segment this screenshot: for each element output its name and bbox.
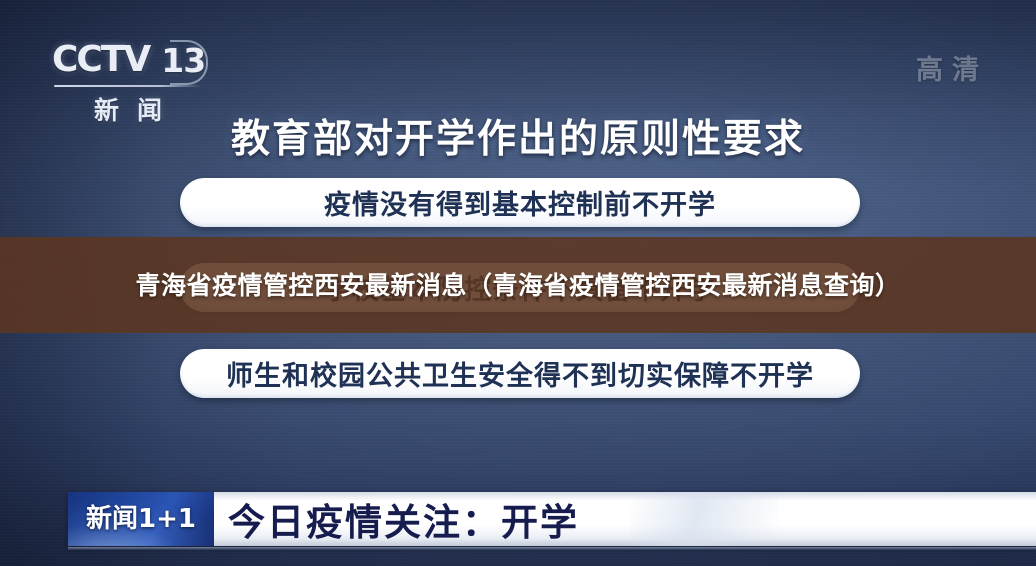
lower-third-headline: 今日疫情关注：开学 [228,492,579,546]
hd-watermark: 高清 [916,48,988,87]
caption-overlay-band: 青海省疫情管控西安最新消息（青海省疫情管控西安最新消息查询） [0,237,1036,333]
channel-logo-wordmark: CCTV [52,42,149,78]
slide-title: 教育部对开学作出的原则性要求 [0,108,1036,164]
channel-logo-divider-icon [150,41,161,79]
program-badge: 新闻1+1 新闻1+1 [68,492,214,546]
channel-logo-number-badge: 13 [161,40,205,81]
channel-logo-number: 13 [161,44,205,77]
lower-third: 新闻1+1 新闻1+1 今日疫情关注：开学 [68,492,1036,546]
channel-logo-row: CCTV 13 [52,38,202,82]
program-badge-text: 新闻1+1 [86,498,196,535]
condition-pill: 师生和校园公共卫生安全得不到切实保障不开学 [180,349,860,398]
condition-pill-text: 师生和校园公共卫生安全得不到切实保障不开学 [226,354,814,393]
caption-overlay-text: 青海省疫情管控西安最新消息（青海省疫情管控西安最新消息查询） [135,269,900,302]
broadcast-screenshot: CCTV 13 新 闻 高清 教育部对开学作出的原则性要求 疫情没有得到基本控制… [0,0,1036,566]
condition-pill: 疫情没有得到基本控制前不开学 [180,178,860,227]
channel-logo-underline [54,85,202,87]
lower-third-underline [68,547,1036,550]
condition-pill-text: 疫情没有得到基本控制前不开学 [324,183,716,222]
